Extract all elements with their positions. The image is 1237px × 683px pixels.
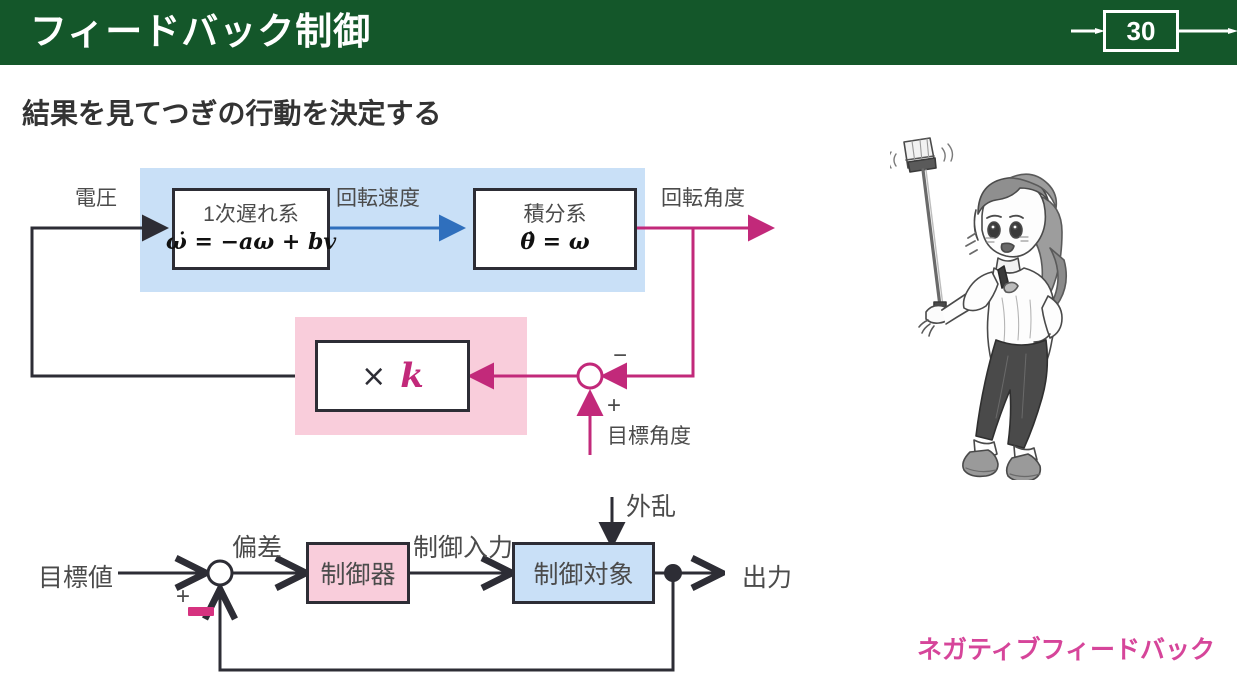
gain-multiply-symbol: × bbox=[361, 359, 386, 394]
label-output: 出力 bbox=[742, 558, 792, 594]
block-first-order-lag-equation: ω̇ = −aω + bv bbox=[166, 229, 336, 255]
badge-arrow-left-icon bbox=[1071, 28, 1105, 34]
sum-sign-negative-upper: − bbox=[613, 342, 627, 370]
label-target-value: 目標値 bbox=[38, 558, 113, 594]
badge-arrow-right-icon bbox=[1178, 28, 1237, 34]
gain-variable-k: k bbox=[400, 356, 424, 396]
label-error: 偏差 bbox=[232, 528, 282, 564]
label-rotation-speed: 回転速度 bbox=[336, 182, 420, 212]
block-first-order-lag-title: 1次遅れ系 bbox=[203, 203, 299, 227]
block-integrator: 積分系 θ̇ = ω bbox=[473, 188, 637, 270]
block-plant: 制御対象 bbox=[512, 542, 655, 604]
page-number-badge: 30 bbox=[1077, 8, 1237, 56]
label-control-input: 制御入力 bbox=[413, 528, 513, 564]
label-voltage: 電圧 bbox=[75, 182, 117, 212]
sum-sign-positive-upper: + bbox=[607, 392, 621, 420]
slide-header: フィードバック制御 30 bbox=[0, 0, 1237, 65]
footnote-negative-feedback: ネガティブフィードバック bbox=[917, 630, 1215, 666]
sum-sign-negative-lower bbox=[188, 607, 214, 616]
block-integrator-equation: θ̇ = ω bbox=[520, 229, 589, 255]
label-disturbance: 外乱 bbox=[626, 487, 676, 523]
girl-balancing-broom-illustration bbox=[890, 130, 1120, 480]
label-target-angle: 目標角度 bbox=[607, 420, 691, 450]
block-integrator-title: 積分系 bbox=[524, 203, 587, 227]
slide-root: フィードバック制御 30 結果を見てつぎの行動を決定する bbox=[0, 0, 1237, 683]
block-controller: 制御器 bbox=[306, 542, 410, 604]
label-rotation-angle: 回転角度 bbox=[661, 182, 745, 212]
block-gain: × k bbox=[315, 340, 470, 412]
page-number-value: 30 bbox=[1103, 10, 1179, 52]
block-first-order-lag: 1次遅れ系 ω̇ = −aω + bv bbox=[172, 188, 330, 270]
slide-subtitle: 結果を見てつぎの行動を決定する bbox=[22, 92, 441, 132]
page-title: フィードバック制御 bbox=[30, 6, 371, 58]
